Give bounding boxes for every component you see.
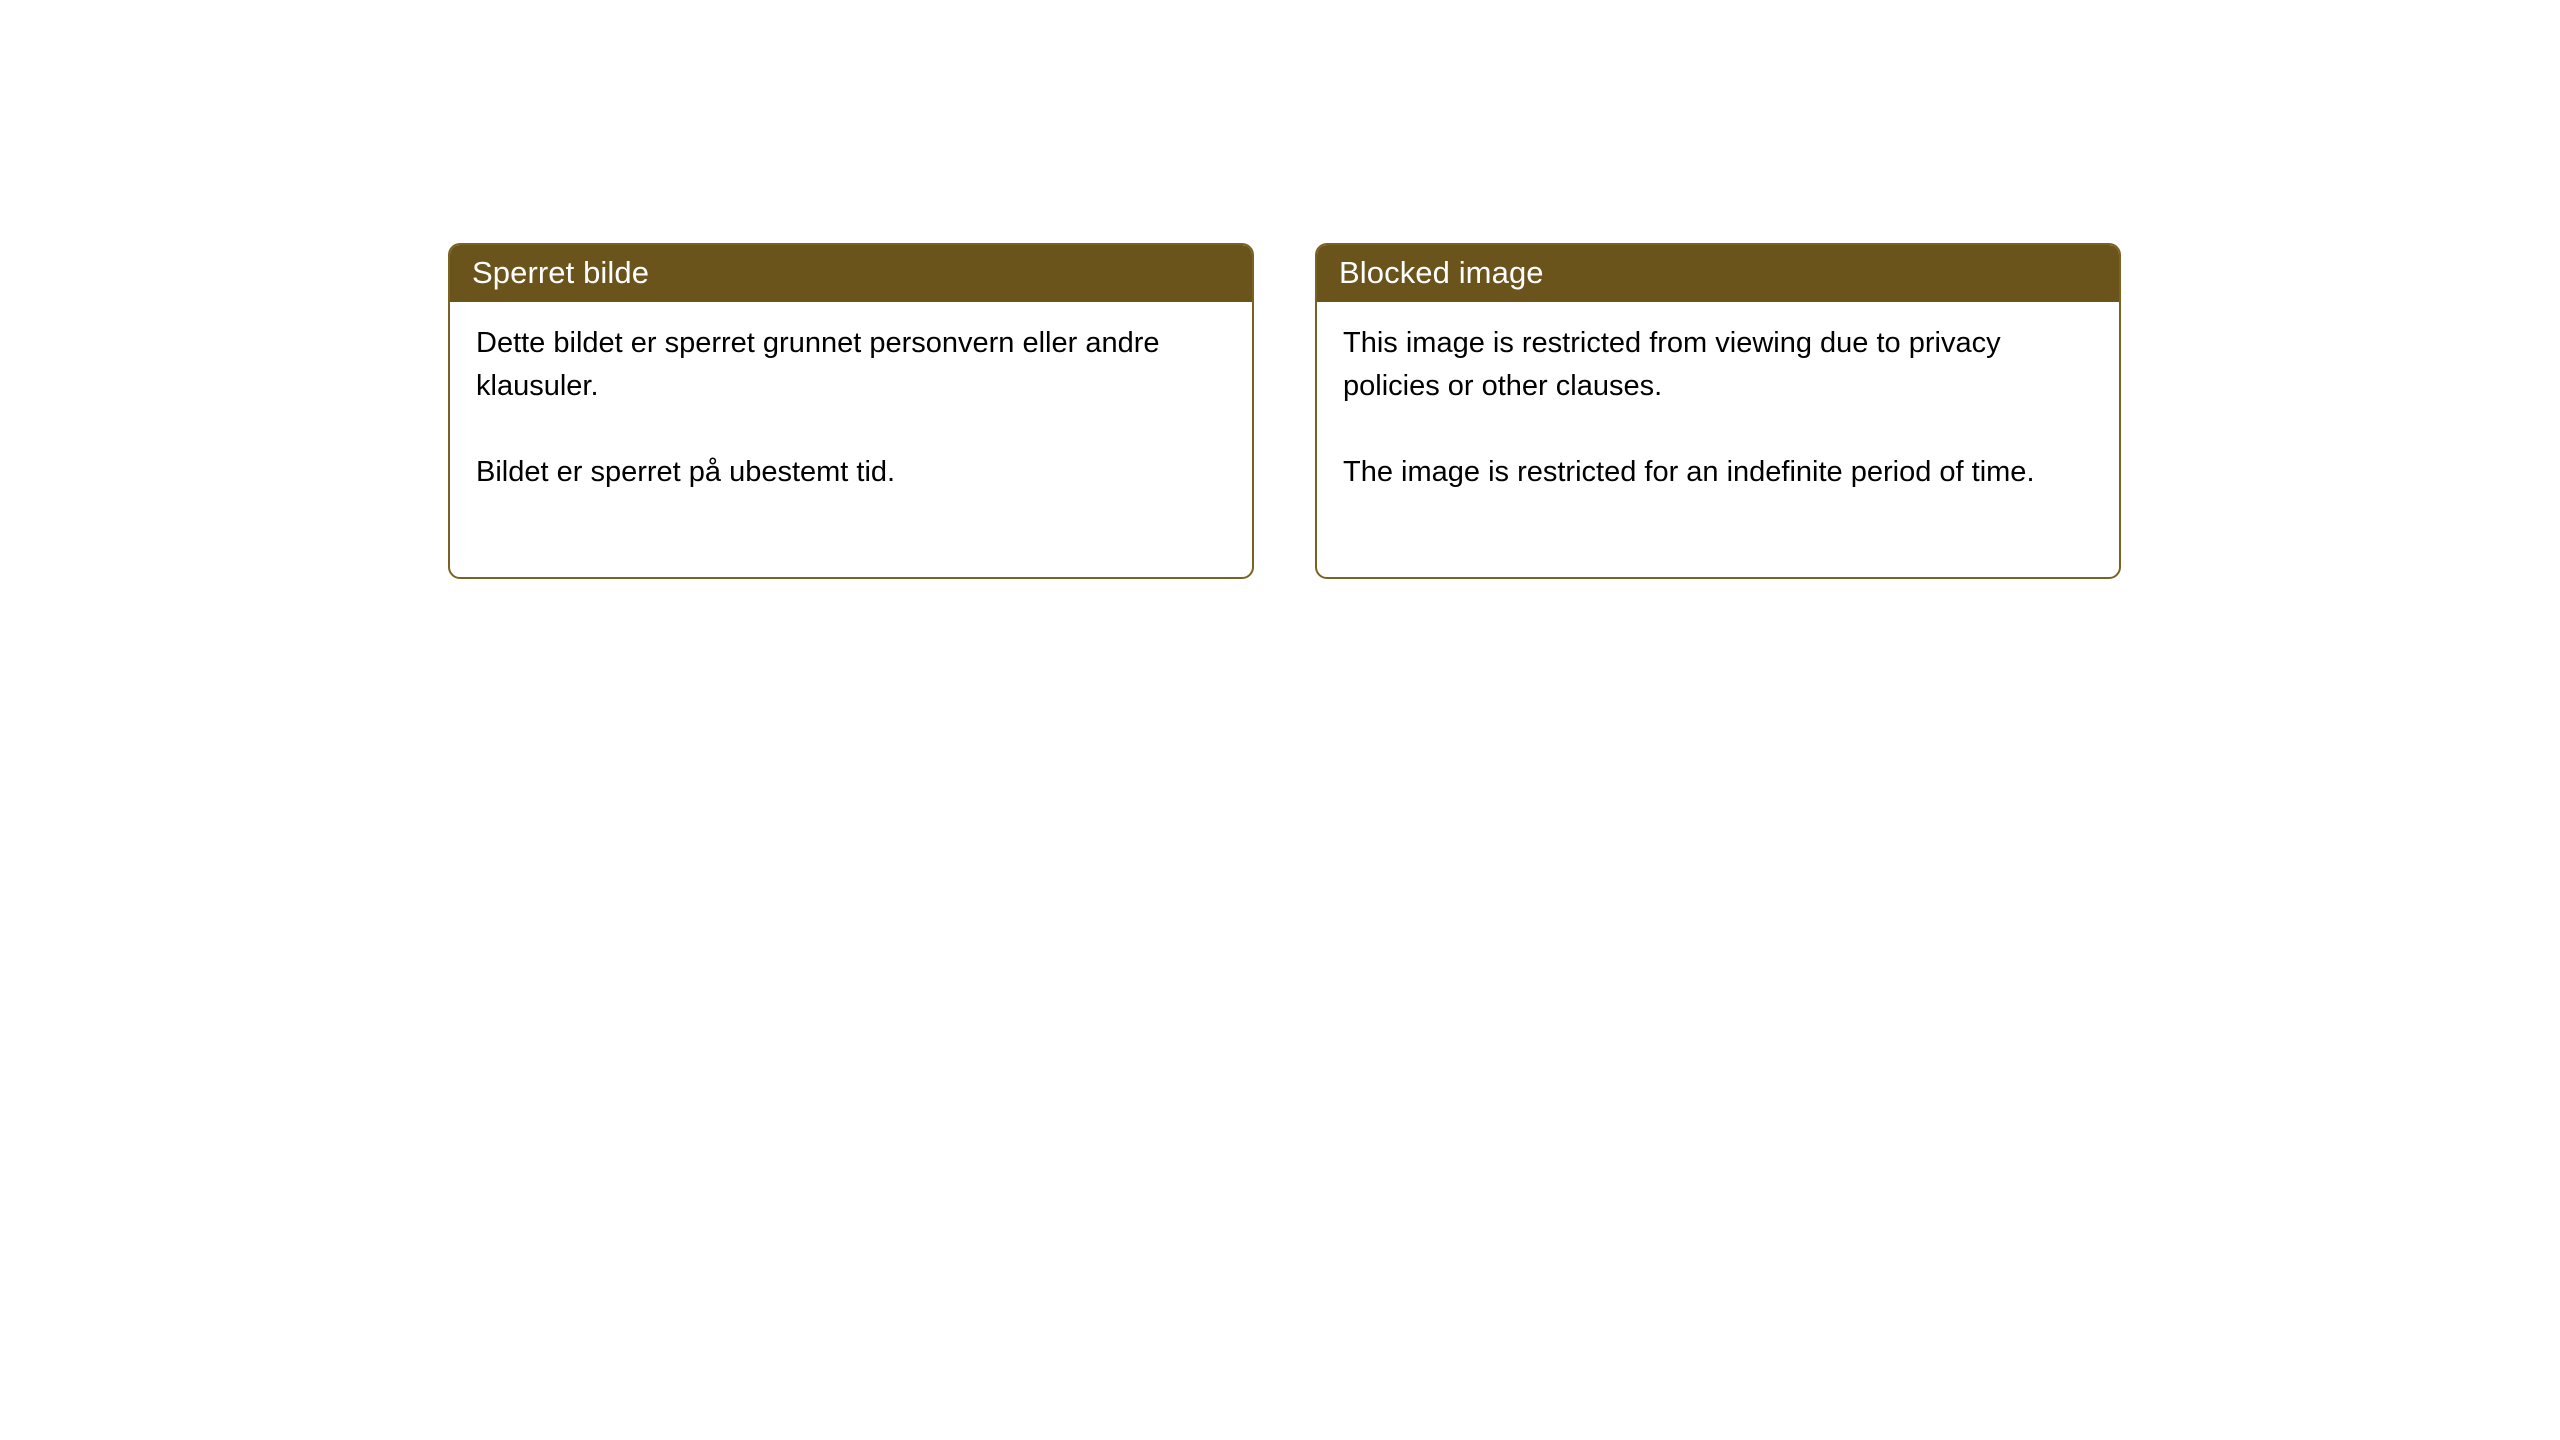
card-paragraph-duration-norwegian: Bildet er sperret på ubestemt tid.: [476, 451, 1196, 494]
card-body-english: This image is restricted from viewing du…: [1317, 302, 2119, 494]
blocked-image-notice-english: Blocked image This image is restricted f…: [1315, 243, 2121, 579]
card-header-norwegian: Sperret bilde: [448, 243, 1254, 302]
card-paragraph-duration-english: The image is restricted for an indefinit…: [1343, 451, 2063, 494]
blocked-image-notice-norwegian: Sperret bilde Dette bildet er sperret gr…: [448, 243, 1254, 579]
card-paragraph-reason-english: This image is restricted from viewing du…: [1343, 322, 2063, 408]
page-canvas: Sperret bilde Dette bildet er sperret gr…: [0, 0, 2560, 1440]
card-body-norwegian: Dette bildet er sperret grunnet personve…: [450, 302, 1252, 494]
card-header-english: Blocked image: [1315, 243, 2121, 302]
card-paragraph-reason-norwegian: Dette bildet er sperret grunnet personve…: [476, 322, 1196, 408]
card-title-norwegian: Sperret bilde: [472, 255, 649, 291]
card-title-english: Blocked image: [1339, 255, 1544, 291]
